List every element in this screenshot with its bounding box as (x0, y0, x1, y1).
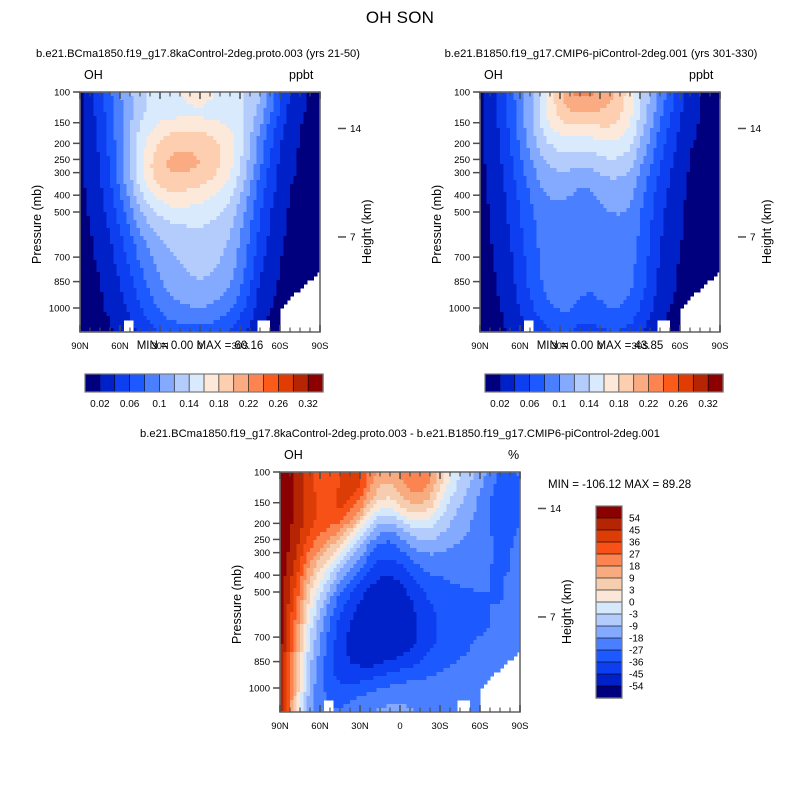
y2-tick-label: 7 (750, 233, 756, 244)
colorbar-tick-label: 18 (629, 562, 641, 573)
colorbar-cell[interactable] (664, 374, 679, 392)
colorbar-tick-label: 9 (629, 574, 635, 585)
y-tick-label: 100 (454, 87, 470, 98)
colorbar-tick-label: -54 (629, 682, 644, 693)
x-tick-label: 30N (351, 721, 369, 732)
colorbar-cell[interactable] (596, 542, 622, 554)
colorbar-tick-label: 0 (629, 598, 635, 609)
colorbar-tick-label: 0.32 (698, 399, 718, 410)
colorbar-cell[interactable] (596, 602, 622, 614)
y-tick-label: 200 (454, 139, 470, 150)
y-tick-label: 700 (54, 253, 70, 264)
colorbar-cell[interactable] (604, 374, 619, 392)
colorbar-cell[interactable] (634, 374, 649, 392)
colorbar-tick-label: 0.1 (152, 399, 166, 410)
colorbar-tick-label: 3 (629, 586, 635, 597)
colorbar-cell[interactable] (596, 578, 622, 590)
y-tick-label: 400 (454, 191, 470, 202)
y-tick-label: 500 (454, 207, 470, 218)
y2-tick-label: 7 (550, 613, 556, 624)
y-tick-label: 500 (54, 207, 70, 218)
x-tick-label: 60N (311, 721, 329, 732)
colorbar-cell[interactable] (693, 374, 708, 392)
colorbar-tick-label: 27 (629, 550, 641, 561)
colorbar-tick-label: 54 (629, 514, 641, 525)
colorbar-tick-label: 0.22 (639, 399, 659, 410)
colorbar-tick-label: 36 (629, 538, 641, 549)
y-tick-label: 300 (54, 168, 70, 179)
colorbar-cell[interactable] (596, 674, 622, 686)
y-tick-label: 500 (254, 587, 270, 598)
y-tick-label: 400 (54, 191, 70, 202)
colorbar-tick-label: -45 (629, 670, 644, 681)
panel-left-plot[interactable]: 90N60N30N030S60S90S100150200250300400500… (0, 0, 400, 360)
colorbar-cell[interactable] (596, 626, 622, 638)
colorbar-cell[interactable] (619, 374, 634, 392)
colorbar-cell[interactable] (678, 374, 693, 392)
x-tick-label: 90S (512, 721, 529, 732)
y2-tick-label: 14 (350, 124, 362, 135)
colorbar-tick-label: -27 (629, 646, 644, 657)
y-tick-label: 200 (54, 139, 70, 150)
y-tick-label: 150 (54, 118, 70, 129)
y2-tick-label: 7 (350, 233, 356, 244)
colorbar-cell[interactable] (596, 518, 622, 530)
colorbar-diff[interactable]: 5445362718930-3-9-18-27-36-45-54 (590, 500, 690, 710)
colorbar-cell[interactable] (596, 566, 622, 578)
y-tick-label: 300 (254, 548, 270, 559)
x-tick-label: 90N (271, 721, 289, 732)
x-tick-label: 0 (397, 721, 402, 732)
colorbar-cell[interactable] (596, 590, 622, 602)
x-tick-label: 60S (472, 721, 489, 732)
panel-right-plot[interactable]: 90N60N30N030S60S90S100150200250300400500… (400, 0, 800, 360)
colorbar-cell[interactable] (708, 374, 723, 392)
colorbar-tick-label: 0.14 (179, 399, 199, 410)
colorbar-cell[interactable] (130, 374, 145, 392)
panel-right-minmax: MIN = 0.00 MAX = 43.85 (460, 340, 740, 352)
y-tick-label: 250 (454, 155, 470, 166)
colorbar-tick-label: 0.06 (120, 399, 140, 410)
colorbar-cell[interactable] (596, 614, 622, 626)
y2-tick-label: 14 (750, 124, 762, 135)
colorbar-cell[interactable] (596, 530, 622, 542)
y2-tick-label: 14 (550, 504, 562, 515)
colorbar-tick-label: -3 (629, 610, 638, 621)
colorbar-cell[interactable] (100, 374, 115, 392)
colorbar-cell[interactable] (115, 374, 130, 392)
colorbar-tick-label: -9 (629, 622, 638, 633)
y-tick-label: 850 (454, 277, 470, 288)
colorbar-cell[interactable] (145, 374, 160, 392)
colorbar-tick-label: 0.18 (609, 399, 629, 410)
colorbar-cell[interactable] (174, 374, 189, 392)
y-tick-label: 250 (54, 155, 70, 166)
y-tick-label: 700 (454, 253, 470, 264)
y-tick-label: 150 (454, 118, 470, 129)
colorbar-cell[interactable] (596, 506, 622, 518)
y-tick-label: 1000 (49, 303, 70, 314)
colorbar-tick-label: 0.02 (90, 399, 110, 410)
colorbar-cell[interactable] (596, 686, 622, 698)
y-tick-label: 850 (254, 657, 270, 668)
y-tick-label: 400 (254, 571, 270, 582)
colorbar-tick-label: -18 (629, 634, 644, 645)
x-tick-label: 30S (432, 721, 449, 732)
colorbar-tick-label: 45 (629, 526, 641, 537)
panel-left-minmax: MIN = 0.00 MAX = 60.16 (60, 340, 340, 352)
y-tick-label: 100 (54, 87, 70, 98)
y-tick-label: 1000 (249, 683, 270, 694)
y-tick-label: 300 (454, 168, 470, 179)
y-tick-label: 200 (254, 519, 270, 530)
colorbar-cell[interactable] (596, 662, 622, 674)
panel-diff-plot[interactable]: 90N60N30N030S60S90S100150200250300400500… (200, 380, 600, 740)
y-tick-label: 250 (254, 535, 270, 546)
colorbar-cell[interactable] (596, 638, 622, 650)
y-tick-label: 1000 (449, 303, 470, 314)
colorbar-tick-label: 0.26 (669, 399, 689, 410)
y-tick-label: 850 (54, 277, 70, 288)
colorbar-cell[interactable] (596, 650, 622, 662)
colorbar-cell[interactable] (159, 374, 174, 392)
colorbar-cell[interactable] (85, 374, 100, 392)
colorbar-cell[interactable] (596, 554, 622, 566)
colorbar-cell[interactable] (649, 374, 664, 392)
y-tick-label: 100 (254, 467, 270, 478)
y-tick-label: 700 (254, 633, 270, 644)
colorbar-tick-label: -36 (629, 658, 644, 669)
y-tick-label: 150 (254, 498, 270, 509)
panel-diff-minmax: MIN = -106.12 MAX = 89.28 (548, 479, 691, 491)
